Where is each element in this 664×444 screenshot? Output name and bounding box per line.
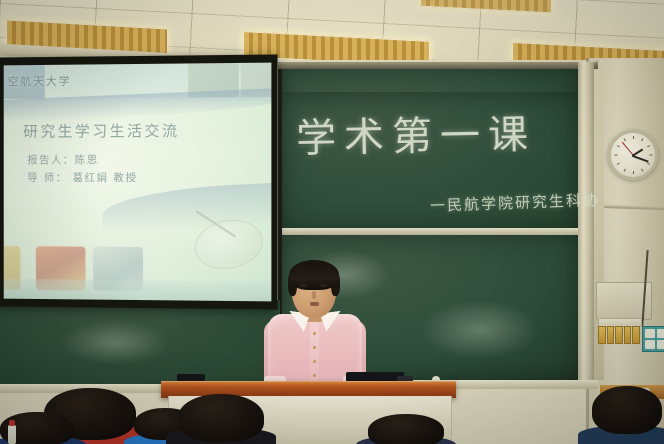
light-switch[interactable]: [607, 326, 615, 344]
shirt-button: [313, 360, 316, 363]
presenter-hair: [289, 260, 339, 290]
wall-clock: [608, 130, 658, 180]
control-button[interactable]: [645, 340, 655, 349]
control-button[interactable]: [657, 329, 664, 338]
water-bottle: [8, 425, 16, 444]
light-switch[interactable]: [598, 326, 606, 344]
audience-head-4: [178, 394, 264, 444]
presenter-nose: [312, 291, 316, 299]
light-switch[interactable]: [624, 326, 632, 344]
blackboard-top-rail: [278, 62, 598, 69]
presenter-eye-left: [300, 284, 307, 287]
blackboard-headline: 学术第一课: [296, 102, 537, 164]
blackboard-divider-rail: [282, 228, 578, 235]
shirt-button: [313, 346, 316, 349]
presenter-shirt-placket: [310, 320, 319, 388]
clock-minute-hand: [632, 155, 648, 162]
presenter-mouth: [310, 302, 319, 306]
slide-footer-band: [4, 279, 272, 302]
shirt-button: [313, 332, 316, 335]
slide-title: 研究生学习生活交流: [23, 120, 179, 142]
audience-hair: [592, 386, 662, 434]
blackboard-slide-track[interactable]: [578, 62, 594, 380]
slide-university-name: 空航天大学: [8, 73, 72, 89]
light-switch[interactable]: [615, 326, 623, 344]
light-switch-bank[interactable]: [598, 326, 640, 344]
control-button[interactable]: [657, 340, 664, 349]
lecture-hall-photo: 学术第一课 一民航学院研究生科协 空航天大学 研究生学习生活交流 报告人：陈思 …: [0, 0, 664, 444]
slide-speaker-line: 报告人：陈思: [27, 152, 99, 167]
presenter-eye-right: [320, 284, 327, 287]
audience-hair: [368, 414, 444, 444]
presenter-eyebrow-right: [319, 280, 328, 282]
audience-hair: [178, 394, 264, 442]
control-button[interactable]: [645, 329, 655, 338]
blackboard-left-section: [0, 300, 280, 386]
audience-head-5: [368, 414, 444, 444]
presenter: [262, 258, 368, 388]
shirt-button: [313, 374, 316, 377]
projection-screen-frame: 空航天大学 研究生学习生活交流 报告人：陈思 导 师： 葛红娟 教授: [0, 54, 278, 309]
light-switch[interactable]: [632, 326, 640, 344]
teal-control-panel[interactable]: [642, 326, 664, 352]
slide-advisor-line: 导 师： 葛红娟 教授: [27, 170, 137, 185]
audience-head-6: [592, 386, 662, 444]
clock-center-pin: [632, 154, 635, 157]
presenter-eyebrow-left: [299, 280, 308, 282]
projection-screen: 空航天大学 研究生学习生活交流 报告人：陈思 导 师： 葛红娟 教授: [4, 63, 272, 302]
